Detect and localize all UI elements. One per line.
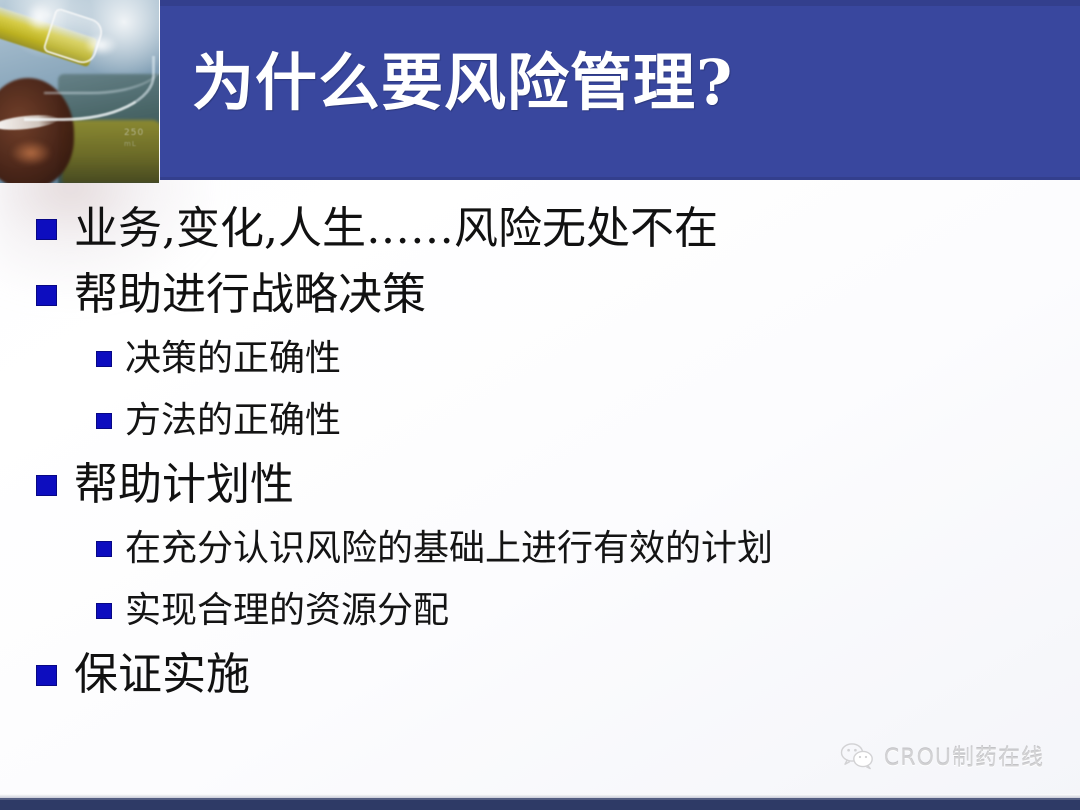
bullet-square-icon [96,541,112,557]
list-item: 决策的正确性 [0,328,1080,390]
photo-beaker-graduation-unit: mL [124,140,137,148]
watermark: CROU制药在线 [840,740,1044,772]
list-item: 业务,变化,人生……风险无处不在 [0,196,1080,262]
photo-glare-primary [84,34,118,56]
bullet-square-icon [96,351,112,367]
list-item-label: 业务,变化,人生……风险无处不在 [74,207,718,251]
list-item: 保证实施 [0,642,1080,708]
list-item-label: 方法的正确性 [125,403,341,439]
page-title: 为什么要风险管理? [192,50,733,115]
list-item-label: 在充分认识风险的基础上进行有效的计划 [125,531,773,567]
bottom-bar [0,798,1080,810]
list-item: 在充分认识风险的基础上进行有效的计划 [0,518,1080,580]
photo-flask-highlight [10,140,52,166]
list-item-label: 帮助进行战略决策 [74,273,426,317]
bullet-square-icon [36,219,57,240]
list-item: 帮助计划性 [0,452,1080,518]
photo-beaker-graduation-mark: 250 [124,128,144,138]
bullet-list: 业务,变化,人生……风险无处不在 帮助进行战略决策 决策的正确性 方法的正确性 … [0,196,1080,708]
bullet-square-icon [36,285,57,306]
list-item-label: 帮助计划性 [74,463,294,507]
presentation-slide: 为什么要风险管理? 250 mL 业务,变化,人生……风险无处不在 帮助进行战略… [0,0,1080,810]
photo-olive-liquid [62,120,159,183]
list-item: 帮助进行战略决策 [0,262,1080,328]
list-item-label: 实现合理的资源分配 [125,593,449,629]
watermark-label: CROU制药在线 [884,740,1044,772]
list-item-label: 决策的正确性 [125,341,341,377]
laboratory-glassware-photo: 250 mL [0,0,159,183]
list-item-label: 保证实施 [74,653,250,697]
bullet-square-icon [96,603,112,619]
wechat-icon [840,742,874,770]
bullet-square-icon [36,475,57,496]
title-banner: 为什么要风险管理? [160,0,1080,180]
list-item: 方法的正确性 [0,390,1080,452]
bullet-square-icon [96,413,112,429]
bullet-square-icon [36,665,57,686]
list-item: 实现合理的资源分配 [0,580,1080,642]
photo-glare-secondary [26,2,52,32]
